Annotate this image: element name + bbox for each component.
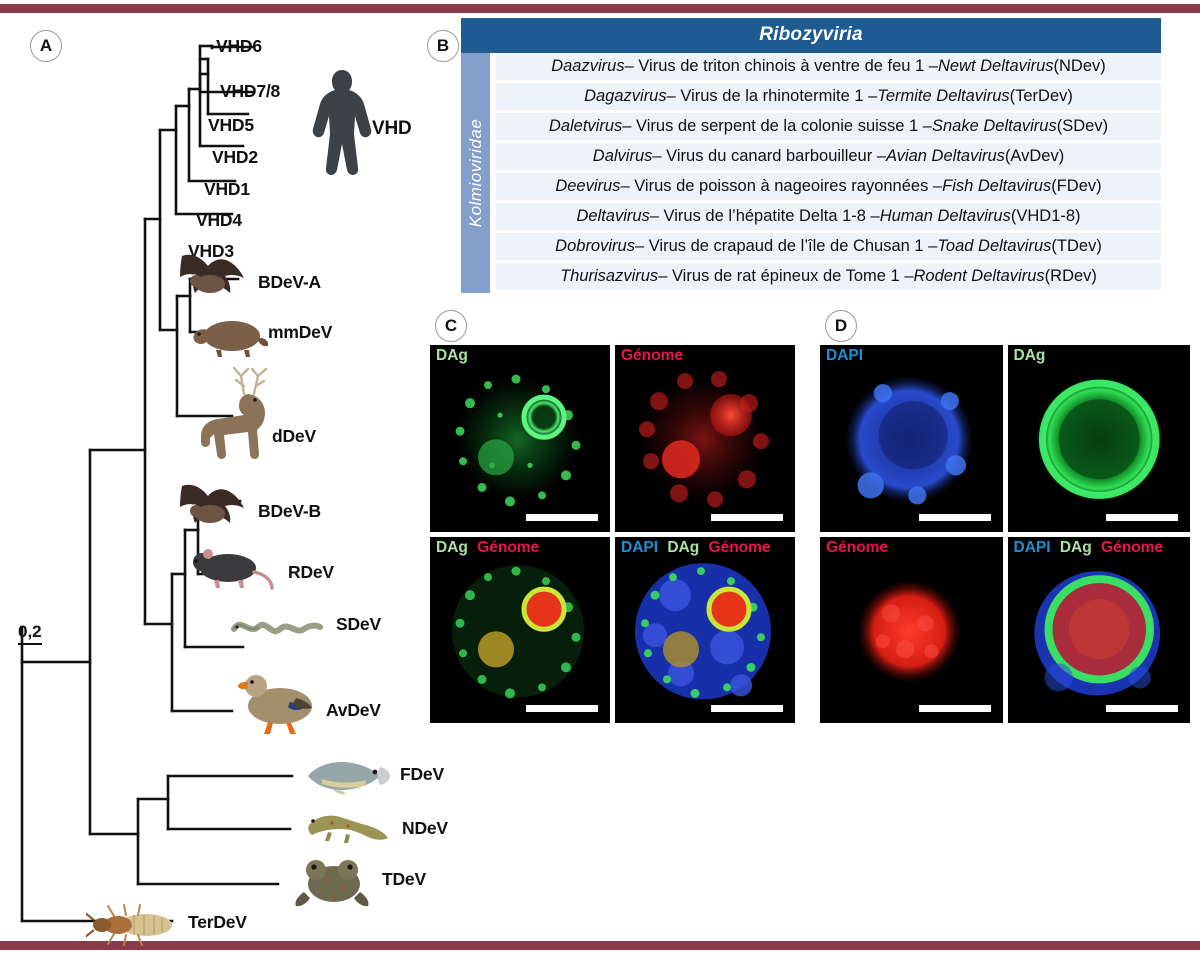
micrograph-c-genome[interactable]: Génome — [615, 345, 795, 532]
rat-icon-rdev — [186, 542, 278, 594]
caption-genome: Génome — [826, 539, 888, 556]
micrograph-d-dapi[interactable]: DAPI — [820, 345, 1003, 532]
row-common: – Virus du canard barbouilleur – — [652, 147, 886, 166]
micrograph-c-dag-genome[interactable]: DAg Génome — [430, 537, 610, 724]
row-genus: Dobrovirus — [555, 237, 635, 256]
cell-image-dag — [430, 345, 610, 532]
tip-label-vhd78: VHD7/8 — [220, 81, 280, 102]
table-header-ribozyviria: Ribozyviria — [461, 18, 1161, 53]
micrograph-c-dag[interactable]: DAg — [430, 345, 610, 532]
scale-bar — [919, 514, 991, 521]
table-row: Deltavirus – Virus de l’hépatite Delta 1… — [496, 203, 1161, 230]
row-common: – Virus de poisson à nageoires rayonnées… — [620, 177, 942, 196]
row-genus: Daazvirus — [551, 57, 624, 76]
caption-genome: Génome — [621, 347, 683, 364]
row-genus: Dalvirus — [593, 147, 653, 166]
toad-icon-tdev — [290, 852, 376, 910]
row-common: – Virus de crapaud de l’île de Chusan 1 … — [635, 237, 937, 256]
row-species: Snake Deltavirus — [932, 117, 1057, 136]
scale-bar-label: 0,2 — [18, 622, 42, 645]
cell-image-merge — [615, 537, 795, 724]
panel-letter-a: A — [30, 30, 62, 62]
table-row: Daletvirus – Virus de serpent de la colo… — [496, 113, 1161, 140]
cell-image-merge — [1008, 537, 1191, 724]
tip-label-vhd1: VHD1 — [204, 179, 250, 200]
scale-bar — [711, 514, 783, 521]
tip-label-bdev-a: BDeV-A — [258, 272, 321, 293]
tip-label-vhd5: VHD5 — [208, 115, 254, 136]
row-common: – Virus de rat épineux de Tome 1 – — [658, 267, 913, 286]
row-common: – Virus de l’hépatite Delta 1-8 – — [650, 207, 880, 226]
tip-label-bdev-b: BDeV-B — [258, 501, 321, 522]
row-genus: Thurisazvirus — [560, 267, 658, 286]
tip-label-mmdev: mmDeV — [268, 322, 332, 343]
top-rule — [0, 4, 1200, 13]
tip-label-tdev: TDeV — [382, 869, 426, 890]
caption-genome: Génome — [1101, 539, 1163, 556]
row-genus: Deevirus — [555, 177, 620, 196]
deer-icon-ddev — [186, 364, 278, 464]
tip-label-ndev: NDeV — [402, 818, 448, 839]
micrograph-d-merge[interactable]: DAPI DAg Génome — [1008, 537, 1191, 724]
bat-icon-bdev-a — [176, 246, 262, 308]
row-genus: Dagazvirus — [584, 87, 667, 106]
table-row: Thurisazvirus – Virus de rat épineux de … — [496, 263, 1161, 290]
row-abbr: (TerDev) — [1010, 87, 1073, 106]
row-common: – Virus de la rhinotermite 1 – — [667, 87, 878, 106]
table-row: Deevirus – Virus de poisson à nageoires … — [496, 173, 1161, 200]
row-species: Avian Deltavirus — [886, 147, 1005, 166]
tip-label-vhd2: VHD2 — [212, 147, 258, 168]
panel-letter-d: D — [825, 310, 857, 342]
duck-icon-avdev — [234, 664, 322, 742]
family-sidebar-kolmioviridae: Kolmioviridae — [461, 53, 490, 293]
row-abbr: (VHD1-8) — [1011, 207, 1081, 226]
newt-icon-ndev — [300, 804, 396, 850]
caption-dapi: DAPI — [1014, 539, 1051, 556]
tip-label-sdev: SDeV — [336, 614, 381, 635]
caption-dag: DAg — [1014, 347, 1046, 364]
row-abbr: (SDev) — [1057, 117, 1108, 136]
micrograph-d-dag[interactable]: DAg — [1008, 345, 1191, 532]
cell-image-dapi — [820, 345, 1003, 532]
table-row: Dalvirus – Virus du canard barbouilleur … — [496, 143, 1161, 170]
cell-image-genome — [615, 345, 795, 532]
snake-icon-sdev — [228, 607, 324, 645]
row-abbr: (NDev) — [1054, 57, 1106, 76]
caption-dapi: DAPI — [826, 347, 863, 364]
row-abbr: (RDev) — [1045, 267, 1097, 286]
row-species: Toad Deltavirus — [937, 237, 1051, 256]
micrograph-d-genome[interactable]: Génome — [820, 537, 1003, 724]
marmot-icon-mmdev — [188, 310, 270, 358]
bat-icon-bdev-b — [176, 476, 262, 538]
scale-bar — [526, 705, 598, 712]
panel-letter-b: B — [427, 30, 459, 62]
micrograph-c-merge[interactable]: DAPI DAg Génome — [615, 537, 795, 724]
row-species: Fish Deltavirus — [942, 177, 1051, 196]
row-common: – Virus de serpent de la colonie suisse … — [622, 117, 932, 136]
table-rows: Daazvirus – Virus de triton chinois à ve… — [496, 53, 1161, 293]
caption-genome: Génome — [709, 539, 771, 556]
tip-label-vhd-group: VHD — [372, 118, 412, 140]
row-species: Newt Deltavirus — [938, 57, 1054, 76]
cell-image-dag — [1008, 345, 1191, 532]
row-species: Human Deltavirus — [880, 207, 1011, 226]
row-genus: Daletvirus — [549, 117, 622, 136]
caption-dag: DAg — [436, 539, 468, 556]
table-row: Daazvirus – Virus de triton chinois à ve… — [496, 53, 1161, 80]
panel-a-phylogenetic-tree: A — [0, 14, 430, 944]
fish-icon-fdev — [302, 753, 394, 799]
scale-bar — [919, 705, 991, 712]
table-row: Dobrovirus – Virus de crapaud de l’île d… — [496, 233, 1161, 260]
caption-dag: DAg — [1060, 539, 1092, 556]
tip-label-vhd6: VHD6 — [216, 36, 262, 57]
caption-dag: DAg — [436, 347, 468, 364]
cell-image-genome — [820, 537, 1003, 724]
termite-icon-terdev — [86, 904, 178, 946]
family-sidebar-label: Kolmioviridae — [466, 119, 486, 228]
caption-dapi: DAPI — [621, 539, 658, 556]
row-species: Rodent Deltavirus — [914, 267, 1045, 286]
scale-bar — [1106, 705, 1178, 712]
row-abbr: (FDev) — [1051, 177, 1101, 196]
tip-label-terdev: TerDeV — [188, 912, 247, 933]
panel-b-taxonomy-table: Ribozyviria Kolmioviridae Daazvirus – Vi… — [461, 18, 1161, 293]
panel-d-micrograph-grid: DAPI DAg — [820, 345, 1190, 723]
row-genus: Deltavirus — [576, 207, 649, 226]
caption-genome: Génome — [477, 539, 539, 556]
panel-letter-c: C — [435, 310, 467, 342]
tip-label-vhd4: VHD4 — [196, 210, 242, 231]
scale-bar — [711, 705, 783, 712]
scale-bar — [1106, 514, 1178, 521]
cell-image-dag-genome — [430, 537, 610, 724]
tip-label-rdev: RDeV — [288, 562, 334, 583]
row-species: Termite Deltavirus — [877, 87, 1009, 106]
tip-label-avdev: AvDeV — [326, 700, 381, 721]
row-abbr: (TDev) — [1051, 237, 1101, 256]
caption-dag: DAg — [667, 539, 699, 556]
row-common: – Virus de triton chinois à ventre de fe… — [625, 57, 938, 76]
row-abbr: (AvDev) — [1005, 147, 1064, 166]
tip-label-fdev: FDeV — [400, 764, 444, 785]
table-row: Dagazvirus – Virus de la rhinotermite 1 … — [496, 83, 1161, 110]
panel-c-micrograph-grid: DAg Génome — [430, 345, 795, 723]
tip-label-ddev: dDeV — [272, 426, 316, 447]
scale-bar — [526, 514, 598, 521]
